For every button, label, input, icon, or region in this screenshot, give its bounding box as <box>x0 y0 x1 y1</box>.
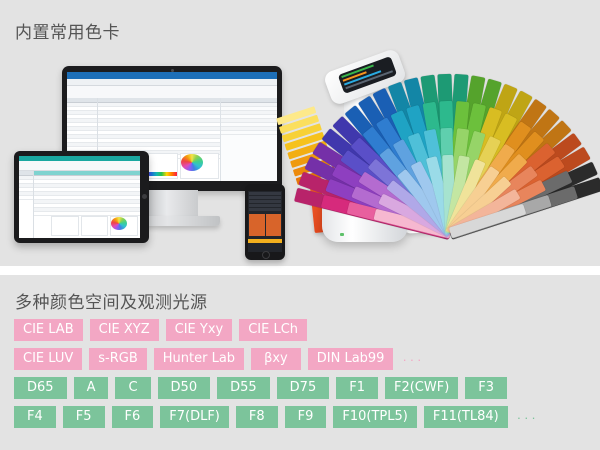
hero-product-imagery: PANTONE <box>0 48 600 263</box>
tablet-chart-1 <box>51 216 79 236</box>
status-led-icon <box>340 233 344 236</box>
tag-color-space-s-rgb[interactable]: s-RGB <box>89 348 147 370</box>
tag-color-space-hunter-lab[interactable]: Hunter Lab <box>154 348 244 370</box>
smartphone-device <box>245 184 285 260</box>
tag-illuminant-d75[interactable]: D75 <box>277 377 330 399</box>
page-title: 内置常用色卡 <box>15 18 120 43</box>
tag-illuminant-f9[interactable]: F9 <box>285 406 327 428</box>
tag-groups: CIE LABCIE XYZCIE YxyCIE LChCIE LUVs-RGB… <box>14 319 600 435</box>
tag-row-illuminant-2: F4F5F6F7(DLF)F8F9F10(TPL5)F11(TL84)··· <box>14 406 600 428</box>
ellipsis-more-illuminant: ··· <box>517 410 539 425</box>
app-titlebar <box>67 72 277 79</box>
tag-color-space-cie-luv[interactable]: CIE LUV <box>14 348 82 370</box>
tablet-chart-2 <box>81 216 109 236</box>
phone-screen <box>248 191 282 252</box>
tag-illuminant-f6[interactable]: F6 <box>112 406 154 428</box>
section-built-in-color-cards: 内置常用色卡 <box>0 0 600 266</box>
tag-color-space-cie-lch[interactable]: CIE LCh <box>239 319 307 341</box>
section-color-spaces-illuminants: 多种颜色空间及观测光源 CIE LABCIE XYZCIE YxyCIE LCh… <box>0 275 600 450</box>
device-and-fandeck: PANTONE <box>300 48 600 263</box>
color-wheel-icon <box>181 154 203 171</box>
tag-illuminant-f7-dlf[interactable]: F7(DLF) <box>160 406 229 428</box>
home-button-icon <box>142 194 147 199</box>
tablet-screen <box>19 156 140 238</box>
app-results-panel <box>220 98 277 181</box>
phone-action-bar <box>248 239 282 243</box>
tag-row-color-space-1: CIE LABCIE XYZCIE YxyCIE LCh <box>14 319 600 341</box>
home-button-icon <box>262 251 270 259</box>
tag-illuminant-f8[interactable]: F8 <box>236 406 278 428</box>
tag-illuminant-f4[interactable]: F4 <box>14 406 56 428</box>
tag-illuminant-a[interactable]: A <box>74 377 109 399</box>
tag-color-space-cie-yxy[interactable]: CIE Yxy <box>166 319 233 341</box>
phone-color-swatches <box>248 213 282 237</box>
phone-body <box>245 184 285 260</box>
tablet-chart-3 <box>110 216 138 236</box>
tag-color-space-din-lab99[interactable]: DIN Lab99 <box>308 348 394 370</box>
tag-row-illuminant-1: D65ACD50D55D75F1F2(CWF)F3 <box>14 377 600 399</box>
tag-illuminant-d55[interactable]: D55 <box>217 377 270 399</box>
tag-illuminant-c[interactable]: C <box>115 377 150 399</box>
page-root: 内置常用色卡 <box>0 0 600 450</box>
ellipsis-more-color-space: ··· <box>402 352 424 367</box>
color-wheel-chart <box>180 153 219 179</box>
tag-illuminant-d50[interactable]: D50 <box>158 377 211 399</box>
tag-illuminant-d65[interactable]: D65 <box>14 377 67 399</box>
tag-color-space-xy[interactable]: βxy <box>251 348 301 370</box>
monitor-stand-neck <box>146 190 198 218</box>
tag-illuminant-f11-tl84[interactable]: F11(TL84) <box>424 406 508 428</box>
tablet-bezel <box>14 151 149 243</box>
tag-row-color-space-2: CIE LUVs-RGBHunter LabβxyDIN Lab99··· <box>14 348 600 370</box>
tag-illuminant-f1[interactable]: F1 <box>336 377 378 399</box>
tag-illuminant-f10-tpl5[interactable]: F10(TPL5) <box>333 406 416 428</box>
tag-illuminant-f3[interactable]: F3 <box>465 377 507 399</box>
tag-color-space-cie-xyz[interactable]: CIE XYZ <box>90 319 159 341</box>
tag-illuminant-f2-cwf[interactable]: F2(CWF) <box>385 377 458 399</box>
section-title: 多种颜色空间及观测光源 <box>15 288 208 313</box>
section-divider <box>0 266 600 275</box>
tablet-device <box>14 151 149 243</box>
app-menubar <box>67 79 277 86</box>
tag-illuminant-f5[interactable]: F5 <box>63 406 105 428</box>
tag-color-space-cie-lab[interactable]: CIE LAB <box>14 319 83 341</box>
